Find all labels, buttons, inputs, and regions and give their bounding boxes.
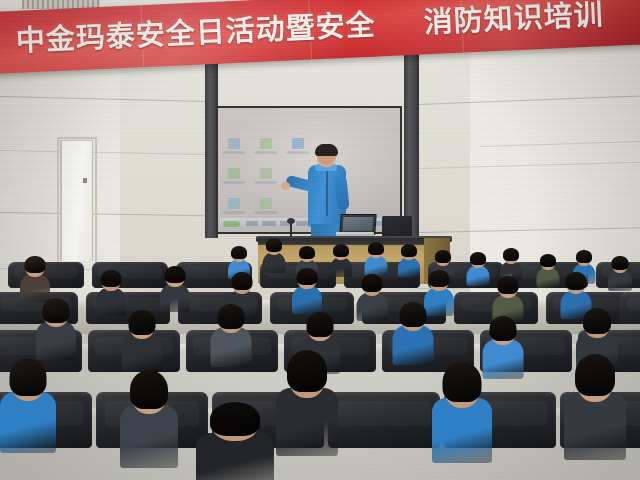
banner-text-right: 消防知识培训	[423, 0, 604, 39]
audience-member	[330, 246, 352, 276]
audience-torso	[356, 292, 387, 321]
audience-hair	[43, 298, 70, 323]
audience-hair	[576, 250, 592, 263]
laptop-screen	[343, 217, 374, 231]
desktop-icon-label	[223, 181, 245, 184]
audience-hair	[297, 268, 318, 285]
audience-hair	[101, 270, 122, 287]
audience-member	[492, 278, 523, 321]
desktop-icon-5	[260, 168, 272, 179]
audience-torso	[262, 252, 285, 273]
audience-hair	[435, 250, 451, 263]
audience-hair	[401, 244, 417, 257]
auditorium-seat	[328, 392, 440, 448]
audience-torso	[564, 392, 626, 460]
audience-hair	[399, 302, 426, 327]
audience-member	[160, 268, 190, 310]
audience-hair	[540, 254, 556, 267]
audience-member	[36, 300, 76, 358]
audience-hair	[489, 316, 516, 341]
audience-hair	[368, 242, 384, 255]
audience-torso	[276, 388, 338, 456]
audience-member	[276, 352, 338, 452]
meeting-room-photo: 中金玛泰安全日活动暨安全 消防知识培训	[0, 0, 640, 480]
audience-member	[564, 356, 626, 456]
audience-hair	[583, 308, 611, 334]
audience-hair	[299, 246, 315, 259]
desktop-icon-label	[223, 211, 245, 214]
audience-hair	[503, 248, 519, 261]
audience-member	[210, 306, 251, 365]
audience-member	[608, 258, 632, 290]
audience-member	[364, 244, 387, 275]
audience-hair	[565, 272, 586, 290]
start-button-icon	[223, 221, 240, 227]
auditorium-seat	[620, 292, 640, 324]
desktop-icon-7	[260, 198, 272, 209]
audience-hair	[266, 238, 282, 252]
desktop-icon-4	[228, 168, 240, 179]
presenter-hair	[315, 144, 338, 156]
audience-hair	[612, 256, 629, 270]
audience-torso	[364, 255, 387, 276]
audience-member	[122, 312, 162, 370]
audience-hair	[129, 310, 156, 335]
audience-torso	[608, 270, 632, 291]
presenter-zipper	[326, 170, 328, 216]
audience-torso	[330, 257, 352, 277]
audience-torso	[120, 405, 178, 468]
audience-torso	[466, 265, 489, 286]
audience-member	[292, 270, 322, 312]
desktop-icon-label	[255, 151, 277, 154]
audience-hair	[165, 266, 186, 283]
audience-hair	[231, 272, 252, 290]
audience-member	[96, 272, 126, 314]
desktop-icon-2	[260, 138, 272, 149]
banner-text-left: 中金玛泰安全日活动暨安全	[15, 8, 376, 58]
microphone-icon	[287, 218, 295, 224]
desktop-icon-label	[255, 211, 277, 214]
audience-torso	[210, 327, 251, 367]
structural-column-right	[404, 52, 419, 240]
audience-hair	[130, 370, 168, 409]
audience-member	[466, 254, 489, 285]
audience-member	[120, 372, 178, 464]
audience-member	[392, 304, 433, 363]
desktop-icon-label	[223, 151, 245, 154]
audience-torso	[292, 285, 322, 314]
audience-member	[536, 256, 559, 287]
audience-hair	[575, 354, 615, 396]
audience-hair	[231, 246, 247, 259]
audience-hair	[443, 362, 482, 402]
audience-hair	[361, 274, 382, 292]
audience-hair	[333, 244, 349, 257]
audience-torso	[160, 283, 190, 312]
taskbar-item	[246, 221, 258, 226]
audience-member	[262, 240, 285, 272]
audience-hair	[470, 252, 486, 265]
audience-member	[0, 360, 56, 450]
audience-hair	[429, 270, 450, 287]
desktop-icon-1	[228, 138, 240, 149]
audience-member	[432, 364, 492, 460]
side-door[interactable]	[60, 140, 93, 261]
desktop-icon-6	[228, 198, 240, 209]
audience-hair	[25, 256, 46, 273]
audience-member	[356, 276, 387, 319]
stage-monitor	[382, 216, 412, 238]
door-plate-icon	[83, 178, 87, 183]
desktop-icon-label	[255, 181, 277, 184]
audience-member	[398, 246, 420, 276]
audience-hair	[10, 358, 47, 396]
audience-torso	[20, 273, 50, 302]
audience-torso	[0, 392, 56, 453]
audience-member	[196, 404, 274, 480]
audience-torso	[536, 267, 559, 288]
taskbar-item	[262, 221, 276, 226]
presenter-right-arm	[334, 175, 349, 210]
audience-hair	[217, 304, 244, 329]
audience-hair	[287, 350, 327, 392]
audience-hair	[497, 276, 518, 294]
audience-hair	[210, 402, 260, 436]
presenter-left-hand	[281, 182, 290, 190]
audience-torso	[392, 325, 433, 365]
audience-torso	[398, 257, 420, 277]
audience-member	[20, 258, 50, 300]
audience-hair	[307, 312, 334, 337]
